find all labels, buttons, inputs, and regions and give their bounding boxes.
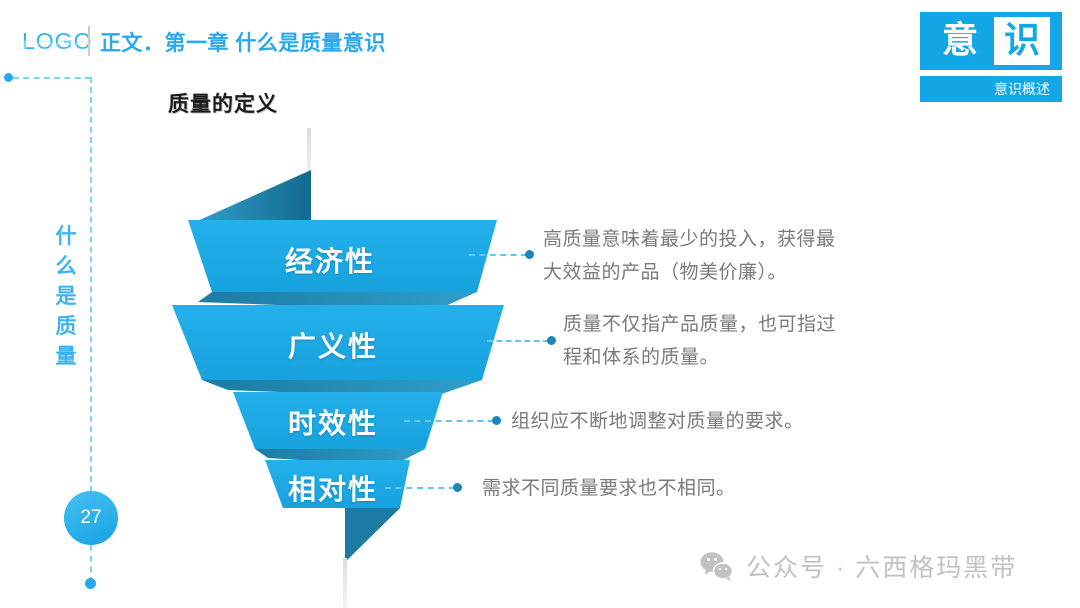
description-2-line-2: 程和体系的质量。 <box>563 341 933 374</box>
funnel-band-1-label: 经济性 <box>285 240 375 280</box>
description-4-line-1: 需求不同质量要求也不相同。 <box>482 472 882 505</box>
funnel-wedge-top <box>195 170 311 222</box>
description-1-line-2: 大效益的产品（物美价廉）。 <box>543 256 913 289</box>
description-3-line-1: 组织应不断地调整对质量的要求。 <box>511 405 911 438</box>
funnel-stem-bottom <box>343 558 347 608</box>
funnel-wedge-bottom-dark <box>345 508 400 562</box>
funnel-band-3-label: 时效性 <box>288 402 378 442</box>
funnel-band-4-label: 相对性 <box>288 468 378 508</box>
description-1: 高质量意味着最少的投入，获得最 大效益的产品（物美价廉）。 <box>543 223 913 289</box>
description-4: 需求不同质量要求也不相同。 <box>482 472 882 505</box>
description-3: 组织应不断地调整对质量的要求。 <box>511 405 911 438</box>
connector-line-4 <box>385 487 455 489</box>
connector-line-3 <box>404 420 494 422</box>
description-1-line-1: 高质量意味着最少的投入，获得最 <box>543 223 913 256</box>
connector-dot-1-icon <box>525 250 534 259</box>
connector-dot-4-icon <box>453 483 462 492</box>
connector-dot-3-icon <box>492 416 501 425</box>
connector-line-2 <box>487 340 549 342</box>
wechat-icon <box>700 551 734 581</box>
funnel-band-2-label: 广义性 <box>288 325 378 365</box>
funnel-diagram <box>0 0 1080 608</box>
description-2-line-1: 质量不仅指产品质量，也可指过 <box>563 308 933 341</box>
watermark-text: 公众号 · 六西格玛黑带 <box>746 548 1017 584</box>
watermark: 公众号 · 六西格玛黑带 <box>700 548 1017 584</box>
description-2: 质量不仅指产品质量，也可指过 程和体系的质量。 <box>563 308 933 374</box>
connector-dot-2-icon <box>547 336 556 345</box>
connector-line-1 <box>469 254 527 256</box>
slide-canvas: LOGO LOGO 正文．第一章 什么是质量意识 意 识 意识概述 质量的定义 … <box>0 0 1080 608</box>
